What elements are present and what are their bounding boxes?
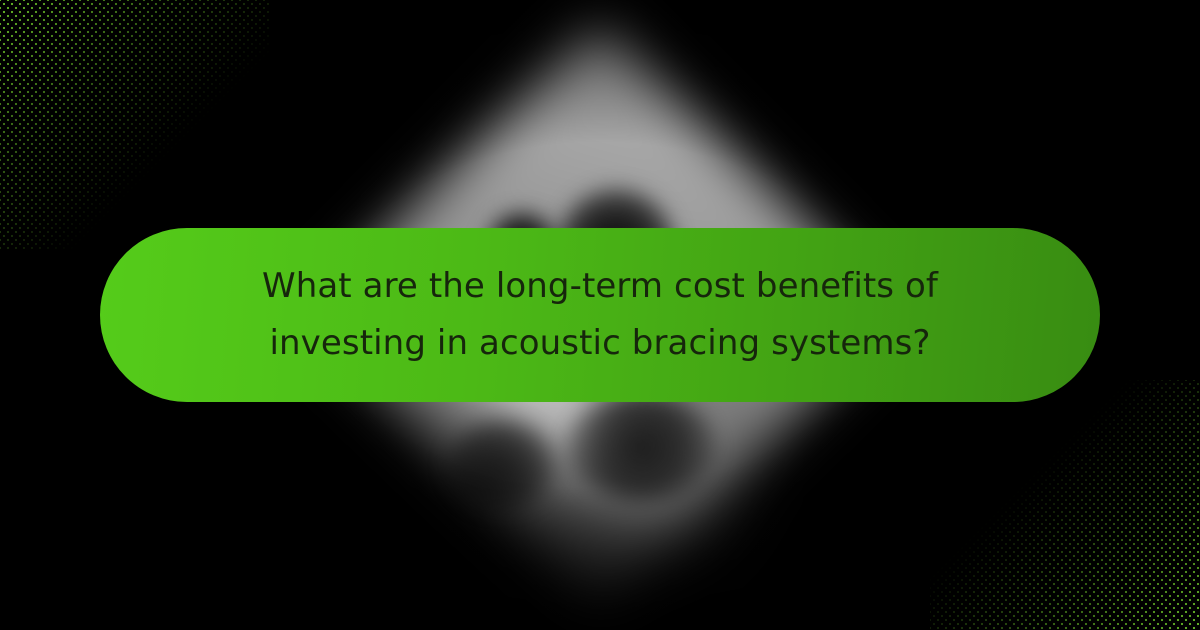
question-card-canvas: What are the long-term cost benefits of … (0, 0, 1200, 630)
question-text: What are the long-term cost benefits of … (220, 258, 980, 372)
dot-grid-bottom-right (930, 380, 1200, 630)
question-pill: What are the long-term cost benefits of … (100, 228, 1100, 402)
dot-grid-top-left (0, 0, 270, 250)
